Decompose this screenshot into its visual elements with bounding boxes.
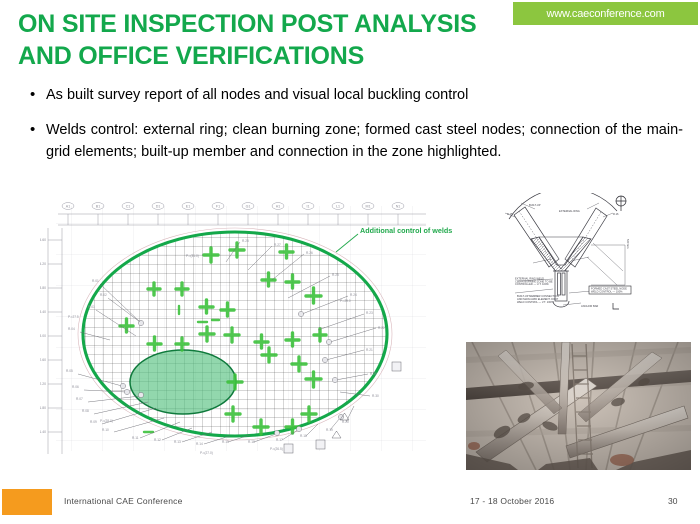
bullet-text: As built survey report of all nodes and … <box>46 84 683 106</box>
svg-text:L1: L1 <box>336 204 340 208</box>
node-detail-drawing: FORMED CAST STEEL NODE WELD CONTROL — 10… <box>495 193 645 321</box>
svg-text:R.17: R.17 <box>276 438 283 442</box>
bullet-list: • As built survey report of all nodes an… <box>28 84 683 176</box>
svg-text:R.07: R.07 <box>76 397 83 401</box>
footer-conference-name: International CAE Conference <box>64 496 183 506</box>
svg-text:WELD CONTROL — 100%: WELD CONTROL — 100% <box>591 290 623 294</box>
svg-text:R.08: R.08 <box>82 409 89 413</box>
svg-text:P.=(31.0): P.=(31.0) <box>186 254 199 258</box>
svg-text:D1: D1 <box>156 204 161 208</box>
svg-text:R.16: R.16 <box>613 212 619 216</box>
svg-text:P.=(28.0): P.=(28.0) <box>100 419 113 423</box>
footer-accent-swatch <box>2 489 52 515</box>
svg-text:M1: M1 <box>366 204 371 208</box>
svg-text:520 mm: 520 mm <box>626 239 630 248</box>
svg-text:WELD CONTROL — V.T. 100%: WELD CONTROL — V.T. 100% <box>517 300 554 304</box>
svg-text:I1: I1 <box>307 204 310 208</box>
svg-text:F1: F1 <box>216 204 220 208</box>
svg-text:2.60: 2.60 <box>40 358 46 362</box>
bullet-text: Welds control: external ring; clean burn… <box>46 119 683 163</box>
svg-text:N1: N1 <box>396 204 401 208</box>
svg-text:R.18: R.18 <box>300 434 307 438</box>
slide-footer: International CAE Conference 17 - 18 Oct… <box>0 487 700 524</box>
svg-text:R.01: R.01 <box>92 279 99 283</box>
footer-page-number: 30 <box>668 496 677 506</box>
list-item: • Welds control: external ring; clean bu… <box>28 119 683 163</box>
footer-date: 17 - 18 October 2016 <box>470 496 554 506</box>
svg-text:1.80: 1.80 <box>40 406 46 410</box>
bullet-dot-icon: • <box>28 84 46 105</box>
svg-text:R.15: R.15 <box>222 440 229 444</box>
svg-text:R.05: R.05 <box>66 369 73 373</box>
svg-text:A1: A1 <box>66 204 70 208</box>
svg-text:CONTROLLED — U.T. 100%: CONTROLLED — U.T. 100% <box>515 282 549 286</box>
list-item: • As built survey report of all nodes an… <box>28 84 683 106</box>
svg-text:P.=27.5: P.=27.5 <box>68 315 79 319</box>
svg-text:R.28: R.28 <box>242 239 249 243</box>
svg-text:R.16: R.16 <box>248 440 255 444</box>
svg-text:EXTERNAL RING: EXTERNAL RING <box>559 209 580 213</box>
svg-text:ANCHOR BAR: ANCHOR BAR <box>581 304 598 308</box>
svg-text:R.15: R.15 <box>507 212 513 216</box>
svg-text:R.09: R.09 <box>90 420 97 424</box>
figure-group: A1B1 C1D1 E1F1 G1H1 I1L1 M1N1 <box>0 190 700 485</box>
site-photo <box>466 342 691 470</box>
svg-text:3.40: 3.40 <box>40 310 46 314</box>
svg-text:R.24: R.24 <box>350 293 357 297</box>
page-title: ON SITE INSPECTION POST ANALYSIS AND OFF… <box>18 8 528 72</box>
svg-text:R.10: R.10 <box>102 428 109 432</box>
page-title-line-2: AND OFFICE VERIFICATIONS <box>18 40 528 72</box>
svg-text:H1: H1 <box>276 204 281 208</box>
svg-text:E1: E1 <box>186 204 190 208</box>
svg-text:2.20: 2.20 <box>40 382 46 386</box>
bullet-dot-icon: • <box>28 119 46 140</box>
svg-text:P.=29.0: P.=29.0 <box>340 299 351 303</box>
svg-text:4.20: 4.20 <box>40 262 46 266</box>
svg-text:R.03: R.03 <box>88 305 95 309</box>
svg-text:P.=(27.0): P.=(27.0) <box>200 451 213 455</box>
svg-text:R.14: R.14 <box>196 442 203 446</box>
svg-text:R.12: R.12 <box>154 438 161 442</box>
svg-text:BUILT-UP: BUILT-UP <box>529 203 541 207</box>
svg-text:3.80: 3.80 <box>40 286 46 290</box>
svg-text:R.21: R.21 <box>366 348 373 352</box>
roof-plan-drawing: A1B1 C1D1 E1F1 G1H1 I1L1 M1N1 <box>40 192 460 482</box>
page-title-line-1: ON SITE INSPECTION POST ANALYSIS <box>18 8 528 40</box>
svg-text:R.27: R.27 <box>274 243 281 247</box>
svg-text:3.00: 3.00 <box>40 334 46 338</box>
svg-text:G1: G1 <box>246 204 251 208</box>
svg-text:4.60: 4.60 <box>40 238 46 242</box>
website-url-banner[interactable]: www.caeconference.com <box>513 2 698 25</box>
svg-text:R.25: R.25 <box>332 273 339 277</box>
svg-text:1.40: 1.40 <box>40 430 46 434</box>
svg-text:R.13: R.13 <box>174 440 181 444</box>
svg-text:P.=(26.5): P.=(26.5) <box>270 447 283 451</box>
svg-text:R.20: R.20 <box>342 420 349 424</box>
svg-text:R.19: R.19 <box>326 428 333 432</box>
svg-text:R.30: R.30 <box>372 394 379 398</box>
svg-text:R.23: R.23 <box>366 311 373 315</box>
svg-text:R.22: R.22 <box>378 326 385 330</box>
svg-text:R.29: R.29 <box>370 372 377 376</box>
plan-highlighted-zone <box>130 350 236 414</box>
slide-canvas: www.caeconference.com ON SITE INSPECTION… <box>0 0 700 524</box>
website-url-text: www.caeconference.com <box>546 8 664 20</box>
svg-text:B1: B1 <box>96 204 100 208</box>
svg-text:R.06: R.06 <box>72 385 79 389</box>
svg-text:R.26: R.26 <box>306 251 313 255</box>
svg-text:R.02: R.02 <box>100 293 107 297</box>
plan-annotation-label: Additional control of welds <box>360 226 452 235</box>
svg-text:C1: C1 <box>126 204 131 208</box>
svg-text:R.11: R.11 <box>132 436 139 440</box>
svg-text:R.04: R.04 <box>68 327 75 331</box>
